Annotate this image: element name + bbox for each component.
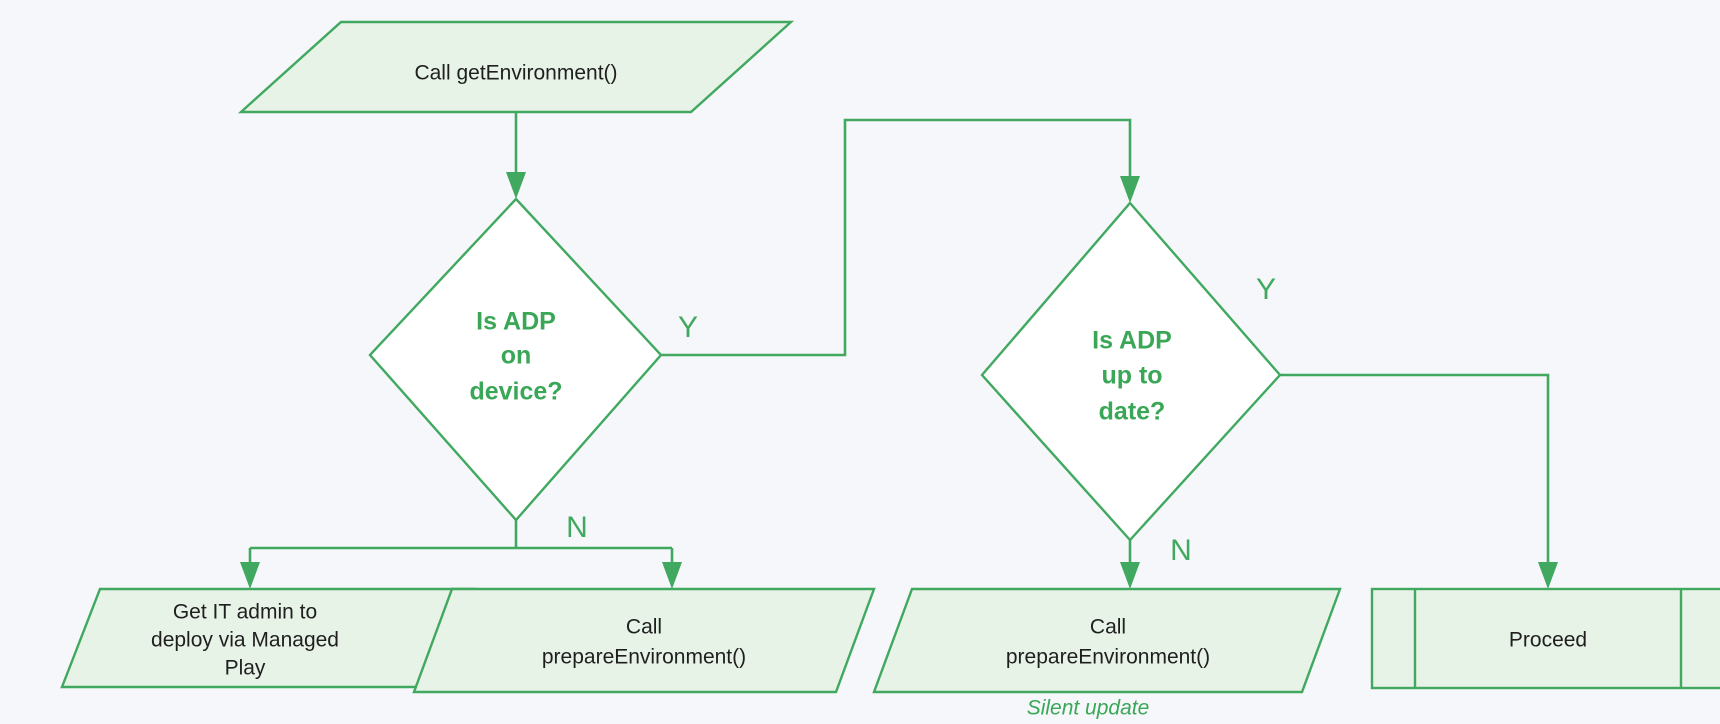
node-label-line1: Get IT admin to: [173, 601, 317, 624]
caption-silent-update: Silent update: [1027, 697, 1150, 720]
node-label-line2: prepareEnvironment(): [1006, 646, 1210, 669]
edge-up-to-date-yes-to-proceed: [1280, 375, 1558, 589]
parallelogram-shape: [414, 589, 874, 692]
edge-on-device-no-bus: [240, 520, 682, 589]
flowchart-svg: Call getEnvironment() Is ADP on device? …: [0, 0, 1720, 724]
edge-start-to-on-device: [506, 112, 526, 199]
node-proceed[interactable]: Proceed: [1372, 589, 1720, 688]
node-get-it-admin-deploy[interactable]: Get IT admin to deploy via Managed Play: [62, 589, 474, 687]
arrow-head-icon: [1538, 562, 1558, 589]
arrow-head-icon: [1120, 176, 1140, 203]
decision-label-line3: device?: [469, 378, 562, 406]
node-call-get-environment[interactable]: Call getEnvironment(): [241, 22, 791, 112]
branch-label-on-device-no: N: [566, 511, 588, 544]
node-label: Call getEnvironment(): [414, 62, 617, 85]
node-label-line1: Call: [1090, 616, 1126, 639]
branch-label-on-device-yes: Y: [678, 311, 698, 344]
arrow-head-icon: [662, 562, 682, 589]
arrow-head-icon: [506, 172, 526, 199]
parallelogram-shape: [874, 589, 1340, 692]
node-label: Proceed: [1509, 629, 1587, 652]
node-is-adp-on-device[interactable]: Is ADP on device?: [370, 199, 661, 520]
edge-up-to-date-no-to-prepare: [1120, 540, 1140, 589]
node-call-prepare-environment-right[interactable]: Call prepareEnvironment(): [874, 589, 1340, 692]
node-label-line3: Play: [225, 657, 266, 680]
decision-label-line1: Is ADP: [476, 308, 556, 336]
arrow-head-icon: [240, 562, 260, 589]
branch-label-up-to-date-yes: Y: [1256, 273, 1276, 306]
node-is-adp-up-to-date[interactable]: Is ADP up to date?: [982, 203, 1280, 540]
decision-label-line1: Is ADP: [1092, 327, 1172, 355]
node-label-line2: prepareEnvironment(): [542, 646, 746, 669]
arrow-head-icon: [1120, 562, 1140, 589]
decision-label-line2: on: [501, 342, 532, 370]
node-call-prepare-environment-left[interactable]: Call prepareEnvironment(): [414, 589, 874, 692]
decision-label-line2: up to: [1101, 362, 1162, 390]
decision-label-line3: date?: [1099, 398, 1166, 426]
branch-label-up-to-date-no: N: [1170, 534, 1192, 567]
node-label-line1: Call: [626, 616, 662, 639]
node-label-line2: deploy via Managed: [151, 629, 339, 652]
flowchart-canvas: Call getEnvironment() Is ADP on device? …: [0, 0, 1720, 724]
